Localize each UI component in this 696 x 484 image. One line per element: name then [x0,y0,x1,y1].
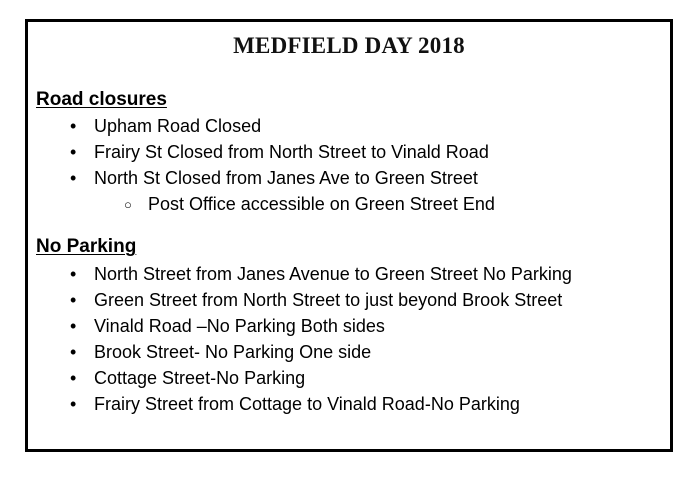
list-item-label: Green Street from North Street to just b… [94,290,562,310]
list-item-label: North Street from Janes Avenue to Green … [94,264,572,284]
sub-list-item-label: Post Office accessible on Green Street E… [148,194,495,214]
slide-body: Road closures • Upham Road Closed • Frai… [28,88,670,418]
section-heading-road-closures: Road closures [36,88,167,112]
slide-frame: MEDFIELD DAY 2018 Road closures • Upham … [25,19,673,452]
list-item-label: Frairy St Closed from North Street to Vi… [94,142,489,162]
section-spacer [36,217,670,235]
list-item-label: Cottage Street-No Parking [94,368,305,388]
bullet-icon: • [70,287,76,313]
list-item: • North St Closed from Janes Ave to Gree… [36,165,670,191]
list-item: • Brook Street- No Parking One side [36,339,670,365]
bullet-icon: • [70,113,76,139]
list-item-label: Frairy Street from Cottage to Vinald Roa… [94,394,520,414]
list-item-label: Vinald Road –No Parking Both sides [94,316,385,336]
bullet-icon: • [70,261,76,287]
list-item-label: North St Closed from Janes Ave to Green … [94,168,478,188]
road-closures-list: • Upham Road Closed • Frairy St Closed f… [36,113,670,191]
list-item: • North Street from Janes Avenue to Gree… [36,261,670,287]
list-item-label: Brook Street- No Parking One side [94,342,371,362]
list-item: • Upham Road Closed [36,113,670,139]
bullet-icon: • [70,313,76,339]
sub-list-item: ○ Post Office accessible on Green Street… [36,191,670,217]
list-item: • Frairy Street from Cottage to Vinald R… [36,391,670,417]
no-parking-list: • North Street from Janes Avenue to Gree… [36,261,670,417]
section-no-parking: No Parking • North Street from Janes Ave… [36,235,670,417]
hollow-bullet-icon: ○ [124,191,132,218]
section-road-closures: Road closures • Upham Road Closed • Frai… [36,88,670,218]
bullet-icon: • [70,365,76,391]
list-item: • Cottage Street-No Parking [36,365,670,391]
bullet-icon: • [70,139,76,165]
bullet-icon: • [70,165,76,191]
section-heading-no-parking: No Parking [36,235,136,259]
bullet-icon: • [70,339,76,365]
list-item: • Green Street from North Street to just… [36,287,670,313]
road-closures-sub-list: ○ Post Office accessible on Green Street… [36,191,670,217]
list-item: • Vinald Road –No Parking Both sides [36,313,670,339]
list-item: • Frairy St Closed from North Street to … [36,139,670,165]
bullet-icon: • [70,391,76,417]
page-title: MEDFIELD DAY 2018 [28,32,670,60]
list-item-label: Upham Road Closed [94,116,261,136]
